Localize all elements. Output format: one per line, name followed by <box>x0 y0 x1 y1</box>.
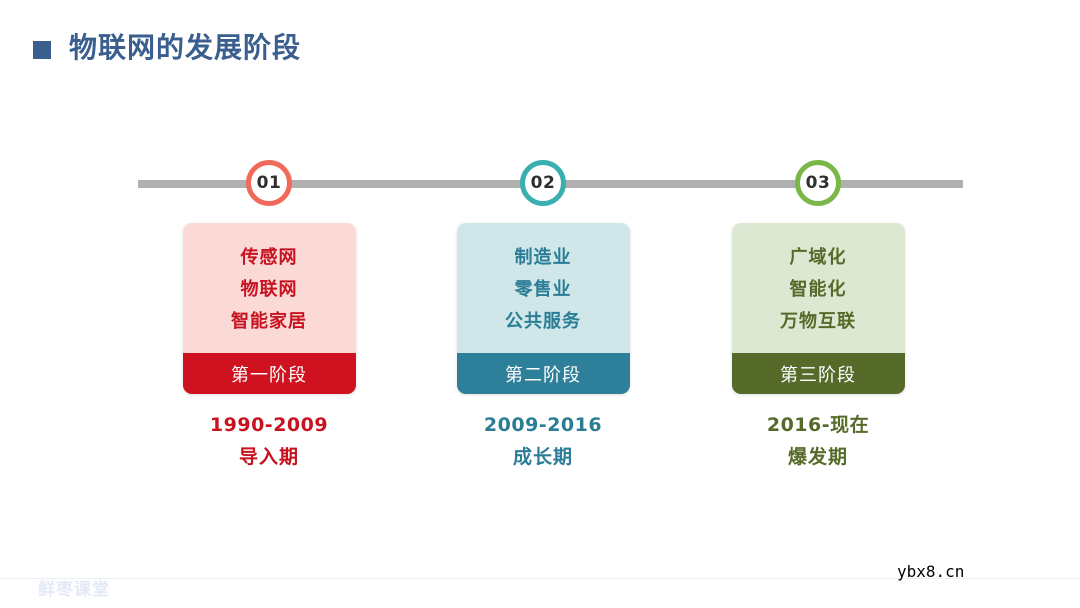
square-bullet-icon <box>33 41 51 59</box>
stage-footer-label-03: 第三阶段 <box>732 353 905 394</box>
stage-number-badge-03[interactable]: 03 <box>795 160 841 206</box>
stage-period: 导入期 <box>239 448 299 467</box>
stage-years: 2016-现在 <box>767 416 869 435</box>
stage-item: 物联网 <box>241 281 298 299</box>
stage-card-body-02: 制造业 零售业 公共服务 <box>457 223 630 353</box>
page-title-text: 物联网的发展阶段 <box>69 34 301 62</box>
stage-card-body-01: 传感网 物联网 智能家居 <box>183 223 356 353</box>
stage-item: 制造业 <box>515 249 572 267</box>
stage-item: 广域化 <box>790 249 847 267</box>
stage-number-badge-01[interactable]: 01 <box>246 160 292 206</box>
stage-pointer-icon-01 <box>240 223 298 224</box>
stage-pointer-icon-02 <box>514 223 572 224</box>
stage-card-01[interactable]: 传感网 物联网 智能家居 第一阶段 <box>183 223 356 394</box>
timeline-stage-02[interactable]: 02 制造业 零售业 公共服务 第二阶段 2009-2016 成长期 <box>428 160 658 467</box>
stage-item: 智能家居 <box>231 313 307 331</box>
stage-item: 万物互联 <box>780 313 856 331</box>
watermark-brand: 鲜枣课堂 <box>38 582 110 599</box>
stage-footer-label-01: 第一阶段 <box>183 353 356 394</box>
stage-years: 2009-2016 <box>484 416 602 435</box>
stage-card-body-03: 广域化 智能化 万物互联 <box>732 223 905 353</box>
stage-item: 传感网 <box>241 249 298 267</box>
timeline-stage-03[interactable]: 03 广域化 智能化 万物互联 第三阶段 2016-现在 爆发期 <box>703 160 933 467</box>
stage-number-badge-02[interactable]: 02 <box>520 160 566 206</box>
stage-years: 1990-2009 <box>210 416 328 435</box>
stage-caption-02: 2009-2016 成长期 <box>484 416 602 467</box>
stage-caption-01: 1990-2009 导入期 <box>210 416 328 467</box>
stage-caption-03: 2016-现在 爆发期 <box>767 416 869 467</box>
stage-card-02[interactable]: 制造业 零售业 公共服务 第二阶段 <box>457 223 630 394</box>
stage-footer-label-02: 第二阶段 <box>457 353 630 394</box>
timeline-stage-01[interactable]: 01 传感网 物联网 智能家居 第一阶段 1990-2009 导入期 <box>154 160 384 467</box>
stage-period: 爆发期 <box>788 448 848 467</box>
stage-pointer-icon-03 <box>789 223 847 224</box>
page-title: 物联网的发展阶段 <box>33 34 301 62</box>
stage-card-03[interactable]: 广域化 智能化 万物互联 第三阶段 <box>732 223 905 394</box>
stage-item: 公共服务 <box>505 313 581 331</box>
stage-period: 成长期 <box>513 448 573 467</box>
stage-item: 零售业 <box>515 281 572 299</box>
watermark-url: ybx8.cn <box>897 564 964 580</box>
stage-item: 智能化 <box>790 281 847 299</box>
